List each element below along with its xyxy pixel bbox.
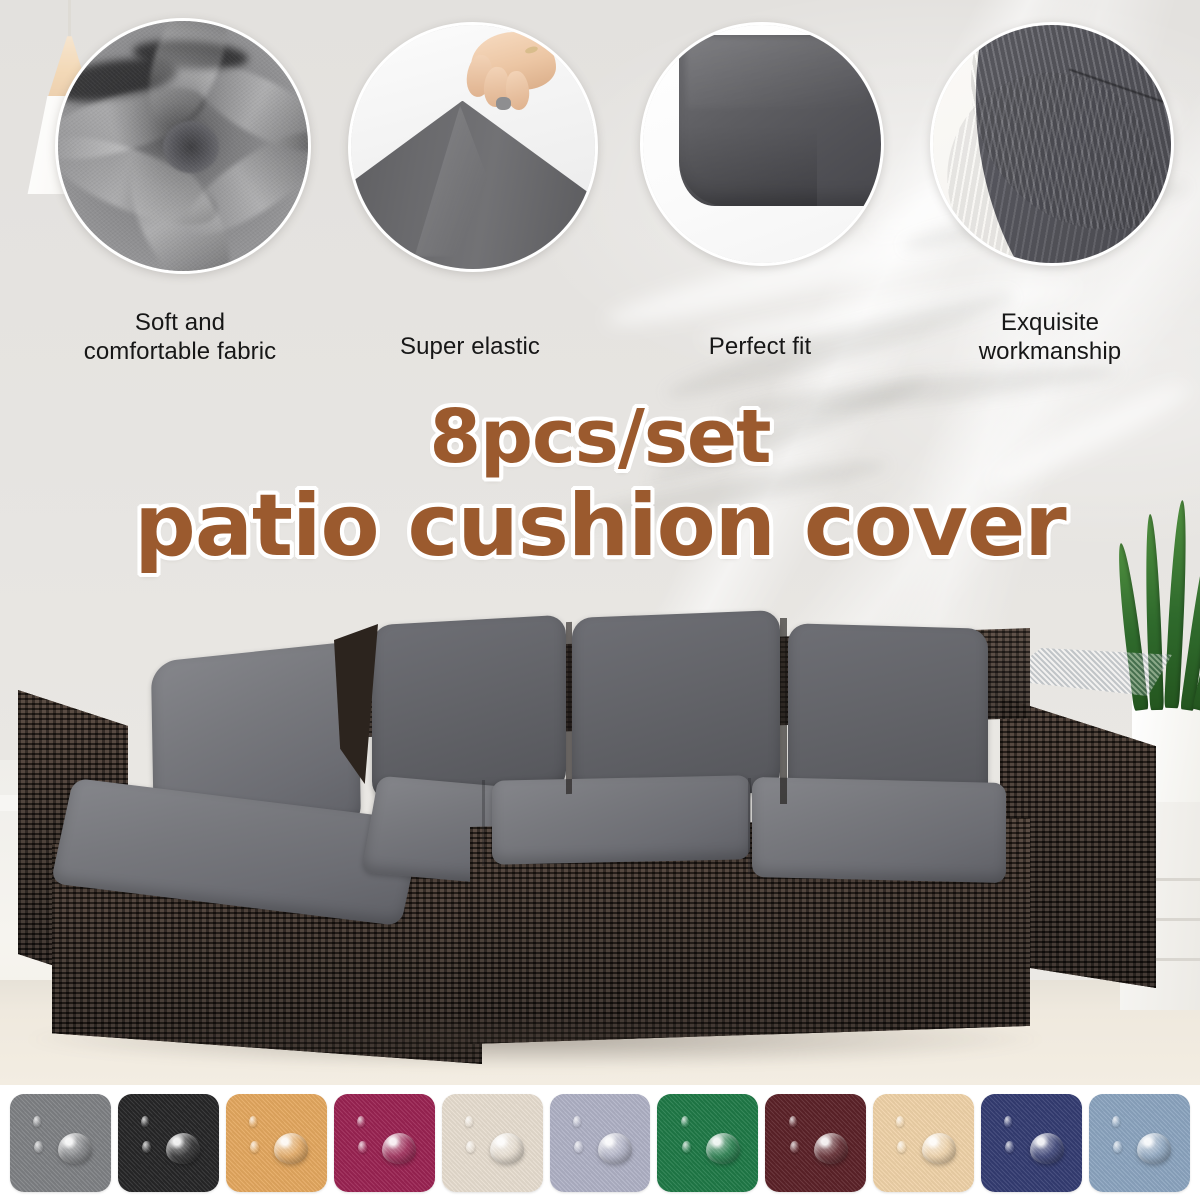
water-droplet-icon	[274, 1133, 308, 1164]
color-swatch-beige[interactable]	[873, 1094, 974, 1192]
headline-line-1: 8pcs/set	[0, 402, 1200, 474]
water-droplet-icon	[34, 1141, 43, 1153]
color-swatch-gray[interactable]	[10, 1094, 111, 1192]
color-swatch-camel[interactable]	[226, 1094, 327, 1192]
water-droplet-icon	[490, 1133, 524, 1164]
patio-sectional-sofa	[0, 600, 1200, 1070]
feature-circle-soft-fabric	[55, 18, 311, 274]
water-droplet-icon	[33, 1116, 41, 1127]
water-droplet-icon	[682, 1141, 691, 1153]
water-droplet-icon	[250, 1141, 259, 1153]
feature-circle-perfect-fit	[640, 22, 884, 266]
product-image-canvas: Soft and comfortable fabric Super elasti…	[0, 0, 1200, 1200]
color-swatch-light-lavender[interactable]	[550, 1094, 651, 1192]
water-droplet-icon	[141, 1116, 149, 1127]
back-cushion	[372, 615, 566, 802]
feature-label-soft-fabric: Soft and comfortable fabric	[40, 308, 320, 367]
water-droplet-icon	[573, 1116, 581, 1127]
water-droplet-icon	[681, 1116, 689, 1127]
feature-label-workmanship: Exquisite workmanship	[920, 308, 1180, 367]
feature-circle-super-elastic	[348, 22, 598, 272]
water-droplet-icon	[466, 1141, 475, 1153]
water-droplet-icon	[922, 1133, 956, 1164]
color-swatch-wine-red[interactable]	[334, 1094, 435, 1192]
feature-label-perfect-fit: Perfect fit	[630, 332, 890, 361]
water-droplet-icon	[789, 1116, 797, 1127]
headline-line-2: patio cushion cover	[0, 485, 1200, 568]
water-droplet-icon	[1030, 1133, 1064, 1164]
water-droplet-icon	[598, 1133, 632, 1164]
water-droplet-icon	[166, 1133, 200, 1164]
seat-cushion	[752, 777, 1006, 883]
water-droplet-icon	[1113, 1141, 1122, 1153]
water-droplet-icon	[358, 1141, 367, 1153]
water-droplet-icon	[357, 1116, 365, 1127]
hand-icon	[461, 32, 559, 120]
feature-label-super-elastic: Super elastic	[330, 332, 610, 361]
color-swatch-green[interactable]	[657, 1094, 758, 1192]
water-droplet-icon	[249, 1116, 257, 1127]
cushion-seam	[748, 778, 751, 874]
color-swatch-navy-blue[interactable]	[981, 1094, 1082, 1192]
color-swatch-ivory[interactable]	[442, 1094, 543, 1192]
color-swatch-steel-blue[interactable]	[1089, 1094, 1190, 1192]
water-droplet-icon	[382, 1133, 416, 1164]
water-droplet-icon	[58, 1133, 92, 1164]
feature-circle-workmanship	[930, 22, 1174, 266]
water-droplet-icon	[465, 1116, 473, 1127]
back-cushion	[572, 610, 780, 800]
color-swatch-burgundy[interactable]	[765, 1094, 866, 1192]
sofa-floor-shadow	[30, 1020, 1040, 1068]
seat-cushion	[492, 775, 750, 864]
cushion-seam	[566, 622, 572, 794]
color-swatch-black[interactable]	[118, 1094, 219, 1192]
water-droplet-icon	[706, 1133, 740, 1164]
water-droplet-icon	[814, 1133, 848, 1164]
cushion-seam	[780, 618, 787, 804]
water-droplet-icon	[1137, 1133, 1171, 1164]
water-droplet-icon	[574, 1141, 583, 1153]
water-droplet-icon	[790, 1141, 799, 1153]
water-droplet-icon	[142, 1141, 151, 1153]
cushion-seam	[482, 780, 485, 866]
color-swatch-row[interactable]	[10, 1094, 1190, 1192]
